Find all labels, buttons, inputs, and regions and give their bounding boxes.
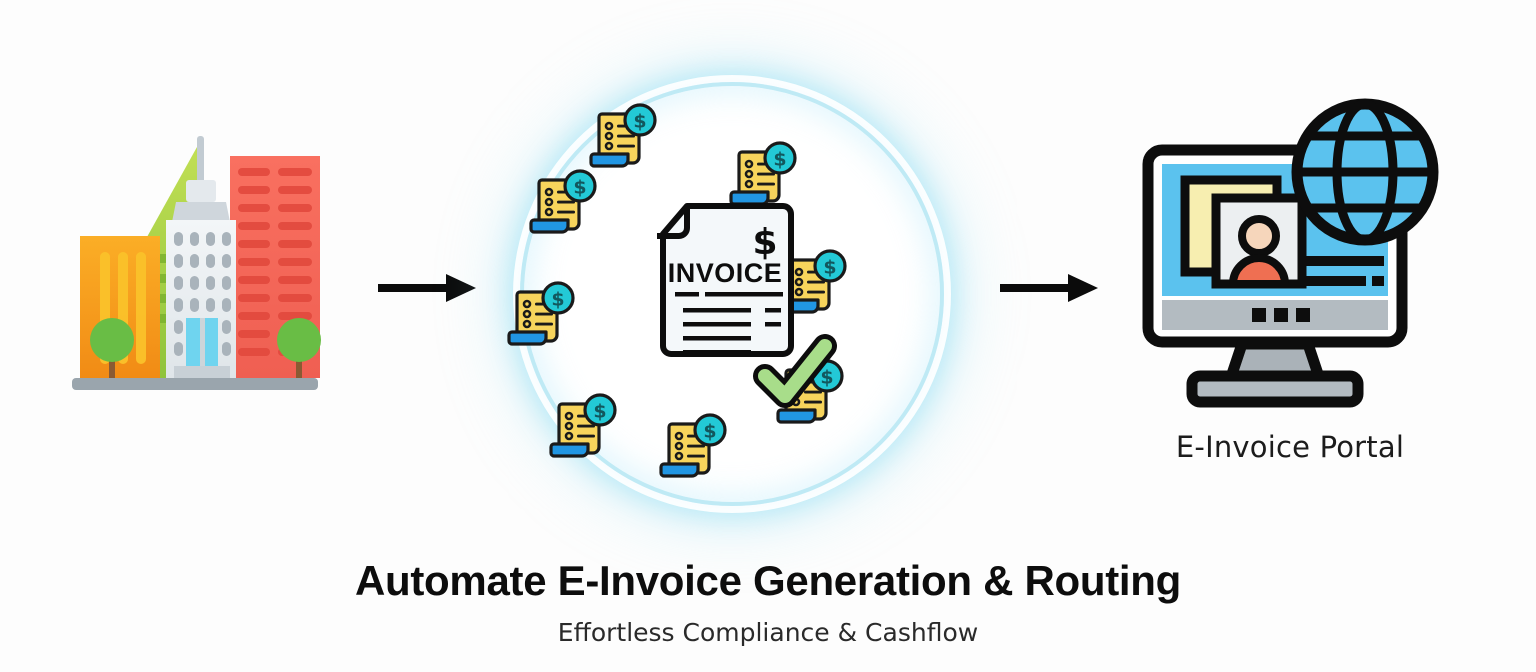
ground-bar xyxy=(72,378,318,390)
svg-text:$: $ xyxy=(551,289,564,311)
bezel-dot-3 xyxy=(1296,308,1310,322)
check-icon xyxy=(751,330,841,421)
business-buildings-illustration xyxy=(70,128,350,418)
svg-text:$: $ xyxy=(593,401,606,423)
bezel-dot-1 xyxy=(1252,308,1266,322)
invoice-title-text: INVOICE xyxy=(668,258,783,288)
svg-text:$: $ xyxy=(703,421,716,443)
invoice-generation-cluster: $ $ xyxy=(470,40,986,540)
arrow-process-to-portal xyxy=(1000,268,1110,308)
page-title: Automate E-Invoice Generation & Routing xyxy=(0,557,1536,605)
svg-text:$: $ xyxy=(823,257,836,279)
portal-label: E-Invoice Portal xyxy=(1070,430,1510,464)
mini-invoice-bottom: $ xyxy=(658,412,730,484)
slide-canvas: $ $ xyxy=(0,0,1536,672)
mini-invoice-top: $ xyxy=(588,102,660,174)
page-subtitle: Effortless Compliance & Cashflow xyxy=(0,618,1536,647)
svg-text:$: $ xyxy=(633,111,646,133)
svg-text:$: $ xyxy=(773,149,786,171)
invoice-currency-symbol: $ xyxy=(752,222,777,263)
mini-invoice-top-left: $ xyxy=(528,168,600,240)
city-svg xyxy=(70,128,350,418)
mini-invoice-left: $ xyxy=(506,280,578,352)
globe-icon xyxy=(1297,104,1433,240)
user-photo-icon xyxy=(1216,198,1302,284)
building-central-skyscraper xyxy=(166,136,236,378)
mini-invoice-bottom-left: $ xyxy=(548,392,620,464)
e-invoice-portal-illustration xyxy=(1130,88,1460,418)
bezel-dot-2 xyxy=(1274,308,1288,322)
svg-text:$: $ xyxy=(573,177,586,199)
